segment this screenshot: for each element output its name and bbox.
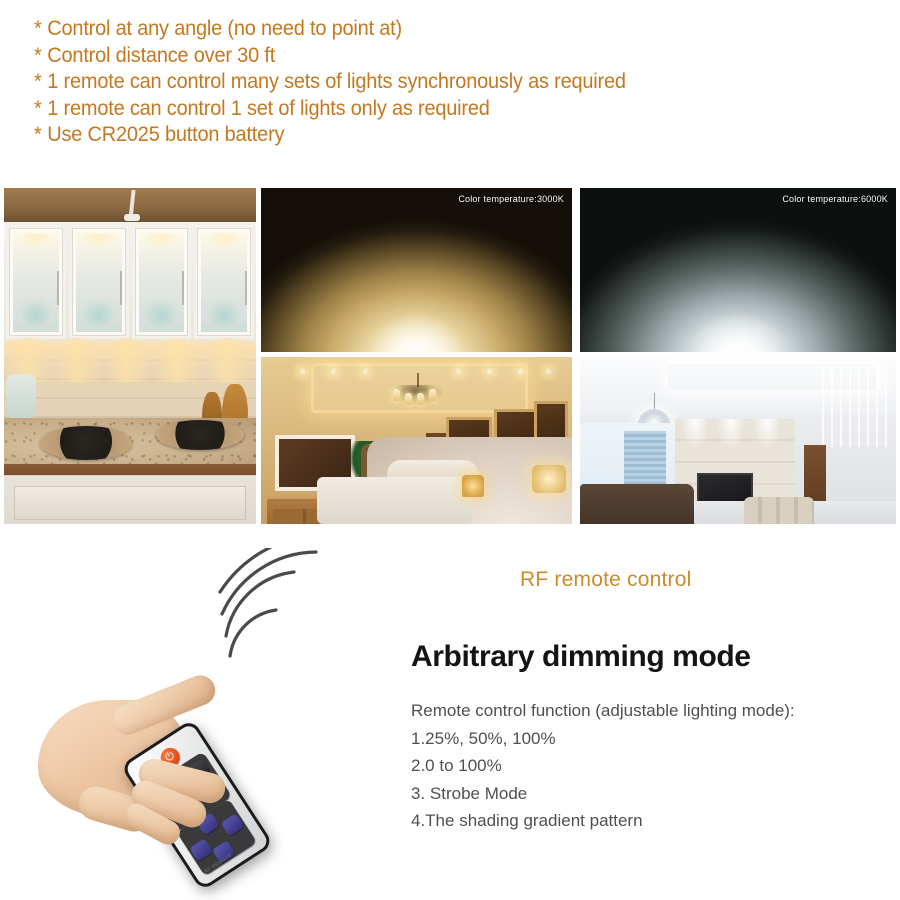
cabinet-spotlight-icon bbox=[144, 234, 178, 250]
chandelier-bulb bbox=[393, 389, 400, 401]
cabinet-door bbox=[69, 225, 129, 339]
bullet-star-icon: * bbox=[34, 43, 47, 70]
sofa bbox=[580, 484, 694, 524]
bullet-star-icon: * bbox=[34, 69, 47, 96]
photo-grid: Color temperature:3000K Color temperatur… bbox=[0, 188, 900, 524]
color-temperature-label: Color temperature:6000K bbox=[782, 194, 888, 204]
chandelier-icon bbox=[391, 373, 443, 413]
cabinet-contents bbox=[19, 298, 53, 326]
feature-item: *Control distance over 30 ft bbox=[34, 43, 832, 70]
cabinet-contents bbox=[207, 298, 241, 326]
description-line: 3. Strobe Mode bbox=[411, 780, 881, 808]
cabinet-handle bbox=[57, 271, 59, 305]
feature-item-label: Control at any angle (no need to point a… bbox=[47, 17, 402, 40]
cabinet-contents bbox=[81, 298, 115, 326]
kitchen-island-base bbox=[4, 464, 256, 524]
stools bbox=[744, 497, 814, 524]
ottoman bbox=[317, 477, 473, 524]
kitchen-cabinets bbox=[4, 222, 256, 342]
feature-item: *1 remote can control 1 set of lights on… bbox=[34, 96, 832, 123]
description-line: 1.25%, 50%, 100% bbox=[411, 725, 881, 753]
crystal-pendant-cluster bbox=[822, 367, 892, 447]
dimming-mode-description: Remote control function (adjustable ligh… bbox=[411, 697, 881, 835]
kitchen-photo bbox=[4, 188, 256, 524]
cabinet-door bbox=[194, 225, 254, 339]
table-lamp bbox=[462, 475, 484, 497]
feature-item-label: Use CR2025 button battery bbox=[47, 123, 284, 146]
place-setting bbox=[156, 420, 244, 450]
bullet-star-icon: * bbox=[34, 96, 47, 123]
kitchen-scene bbox=[4, 188, 256, 524]
chandelier-bulb bbox=[405, 393, 412, 405]
glass-jug bbox=[6, 374, 36, 420]
color-temp-6000k-photo: Color temperature:6000K bbox=[580, 188, 896, 352]
floor-lamp bbox=[532, 465, 566, 493]
cabinet-handle bbox=[245, 271, 247, 305]
under-cabinet-light-glow bbox=[4, 338, 256, 382]
track-light-fixture-icon bbox=[124, 214, 140, 221]
cabinet-spotlight-icon bbox=[207, 234, 241, 250]
color-temp-3000k-photo: Color temperature:3000K bbox=[261, 188, 572, 352]
feature-list: *Control at any angle (no need to point … bbox=[34, 16, 874, 149]
chandelier-bulb bbox=[417, 393, 424, 405]
arbitrary-dimming-mode-heading: Arbitrary dimming mode bbox=[411, 640, 751, 674]
feature-item-label: Control distance over 30 ft bbox=[47, 44, 275, 67]
kitchen-ceiling bbox=[4, 188, 256, 222]
cabinet-door bbox=[6, 225, 66, 339]
cabinet-spotlight-icon bbox=[19, 234, 53, 250]
rf-remote-control-heading: RF remote control bbox=[520, 568, 691, 592]
remote-illustration: ⏻ RF REMOTE bbox=[30, 548, 390, 878]
hand-holding-remote: ⏻ RF REMOTE bbox=[38, 666, 268, 856]
warm-living-room-photo bbox=[261, 357, 572, 524]
cabinet-handle bbox=[120, 271, 122, 305]
cabinet-handle bbox=[182, 271, 184, 305]
cool-beam-graphic bbox=[580, 188, 896, 352]
feature-item-label: 1 remote can control 1 set of lights onl… bbox=[47, 97, 489, 120]
feature-item: *Control at any angle (no need to point … bbox=[34, 16, 832, 43]
warm-room-scene bbox=[261, 357, 572, 524]
description-line: Remote control function (adjustable ligh… bbox=[411, 697, 881, 725]
bullet-star-icon: * bbox=[34, 16, 47, 43]
cabinet-spotlight-icon bbox=[82, 234, 116, 250]
cool-living-room-photo bbox=[580, 357, 896, 524]
place-setting bbox=[40, 426, 132, 460]
warm-beam-graphic bbox=[261, 188, 572, 352]
color-temperature-label: Color temperature:3000K bbox=[458, 194, 564, 204]
wall-wash-lights bbox=[675, 419, 795, 459]
cabinet-door bbox=[132, 225, 192, 339]
feature-item-label: 1 remote can control many sets of lights… bbox=[47, 70, 625, 93]
cool-room-scene bbox=[580, 357, 896, 524]
bullet-star-icon: * bbox=[34, 122, 47, 149]
description-line: 4.The shading gradient pattern bbox=[411, 807, 881, 835]
chandelier-bulb bbox=[429, 389, 436, 401]
feature-item: *1 remote can control many sets of light… bbox=[34, 69, 832, 96]
chandelier-stem bbox=[654, 393, 656, 409]
feature-item: *Use CR2025 button battery bbox=[34, 122, 832, 149]
cabinet-contents bbox=[144, 298, 178, 326]
description-line: 2.0 to 100% bbox=[411, 752, 881, 780]
